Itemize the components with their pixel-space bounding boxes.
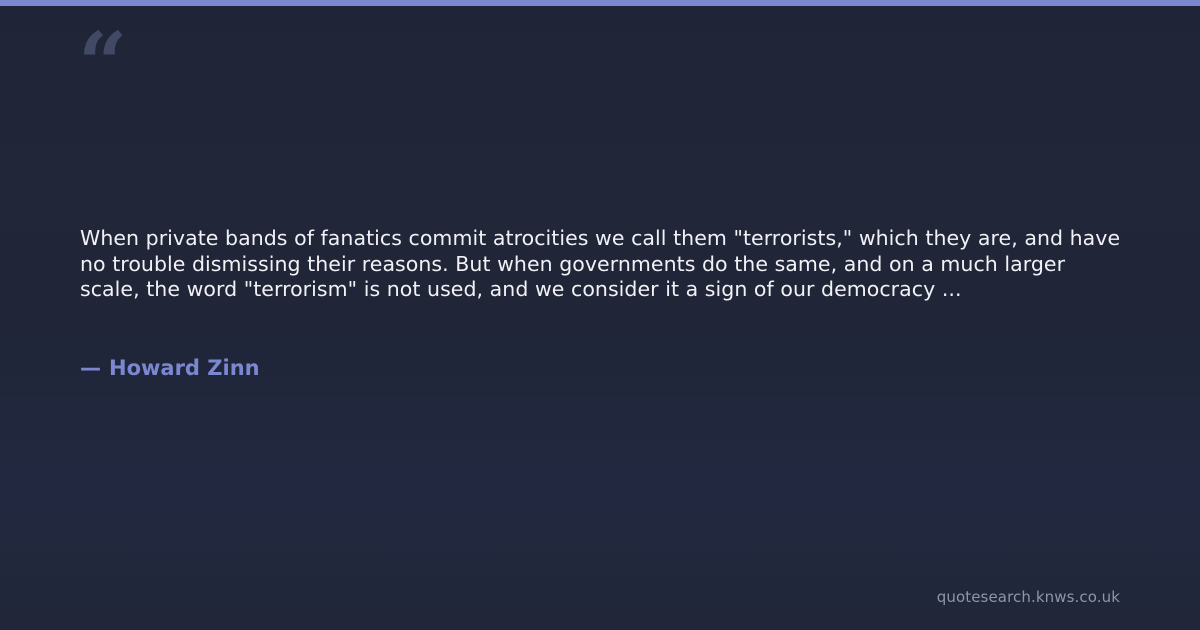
site-url-label: quotesearch.knws.co.uk [937, 588, 1120, 606]
quote-card: “ When private bands of fanatics commit … [0, 0, 1200, 630]
attribution-author-name: Howard Zinn [109, 356, 260, 380]
quote-attribution: —Howard Zinn [80, 354, 260, 382]
quote-content: “ When private bands of fanatics commit … [0, 0, 1200, 630]
quote-text: When private bands of fanatics commit at… [80, 226, 1125, 303]
open-quote-icon: “ [78, 22, 125, 108]
attribution-dash: — [80, 356, 101, 380]
